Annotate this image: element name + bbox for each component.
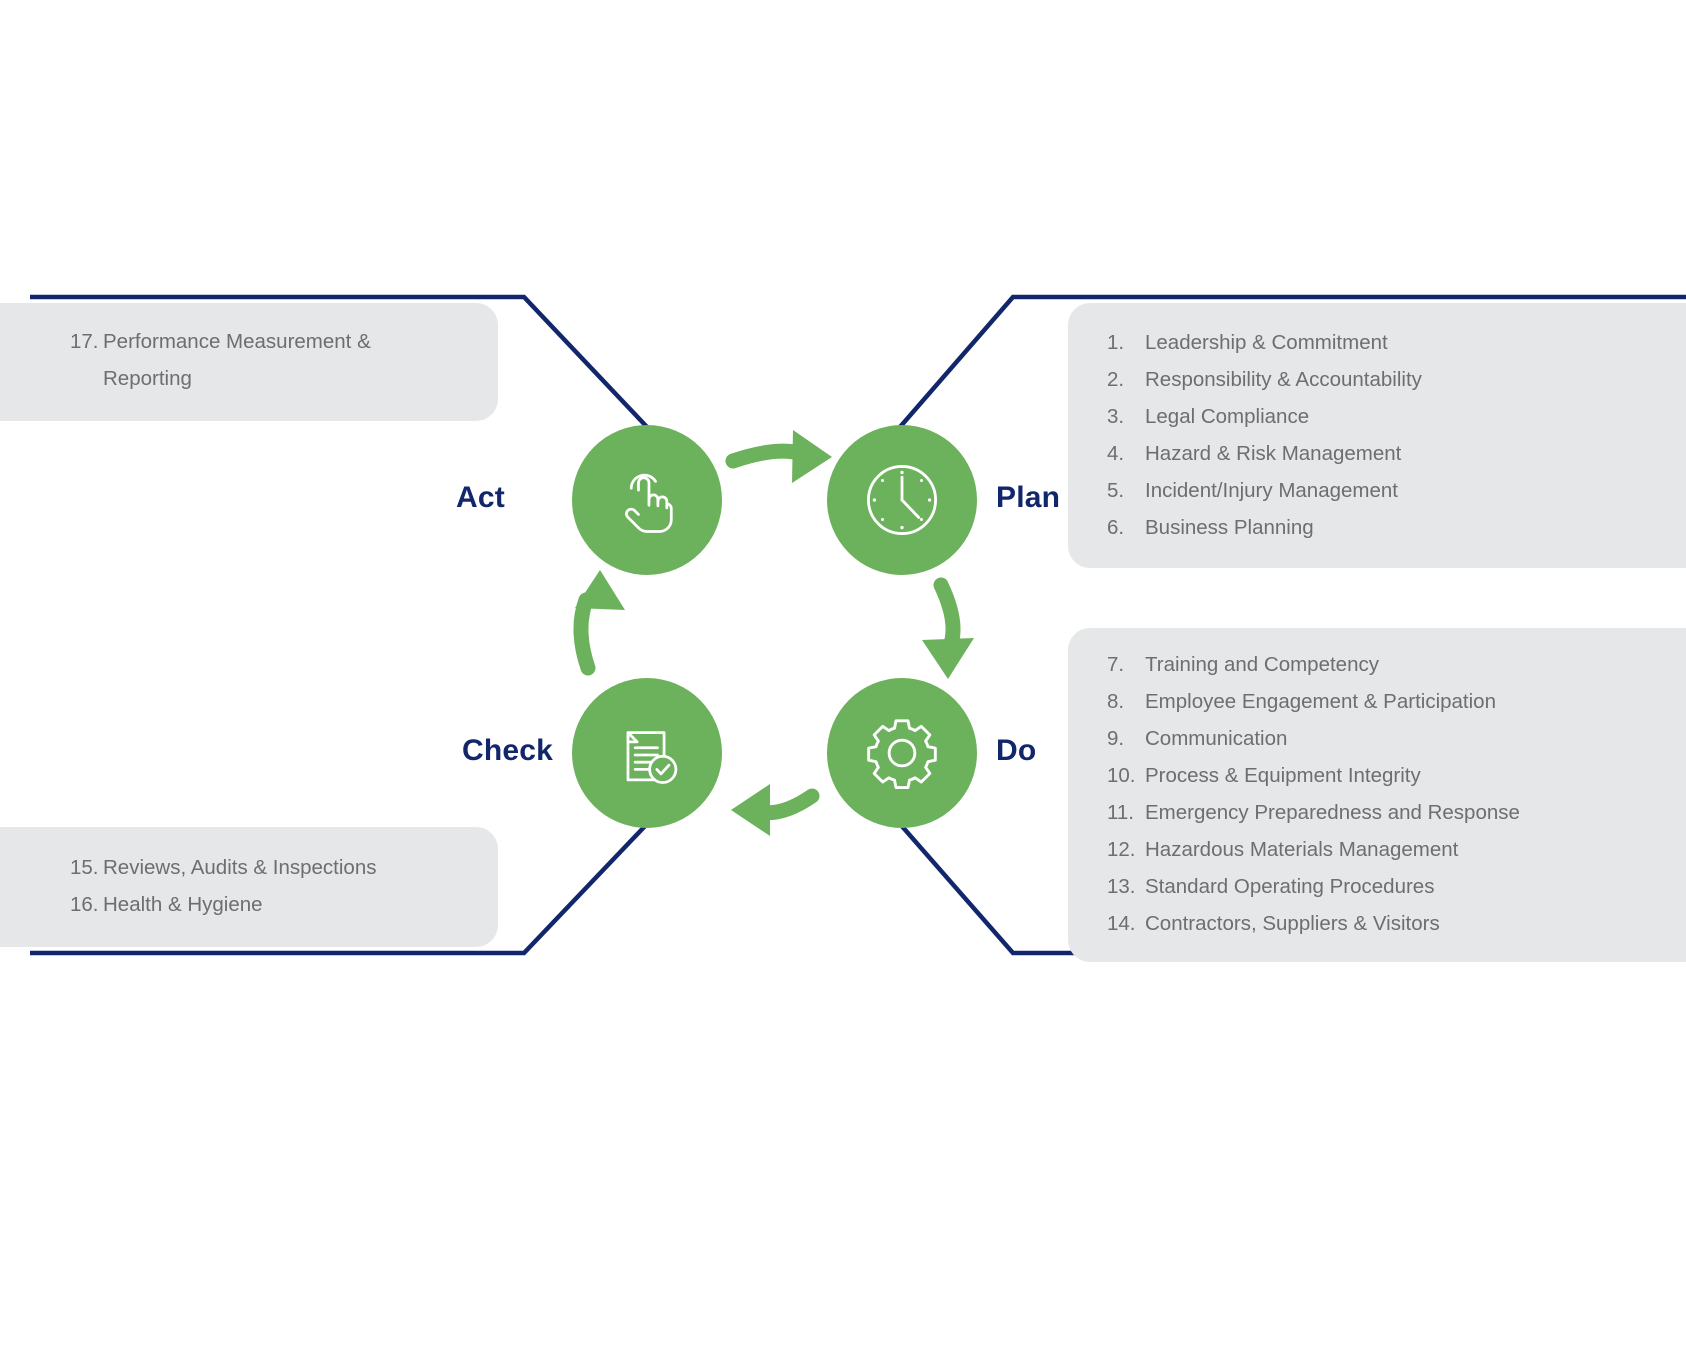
act-items-list: 17.Performance Measurement & Reporting [0, 323, 498, 397]
list-item: 17.Performance Measurement & Reporting [0, 323, 498, 397]
pdca-diagram: 1.Leadership & Commitment 2.Responsibili… [0, 0, 1686, 1348]
act-items-panel: 17.Performance Measurement & Reporting [0, 303, 498, 421]
list-item-label: Emergency Preparedness and Response [1145, 794, 1520, 831]
arrow-do-to-check-icon [731, 784, 812, 836]
list-item: 15.Reviews, Audits & Inspections [0, 849, 498, 886]
list-item: 7.Training and Competency [1107, 646, 1686, 683]
list-item-number: 12. [1107, 831, 1145, 868]
do-items-list: 7.Training and Competency 8.Employee Eng… [1107, 646, 1686, 942]
do-items-panel: 7.Training and Competency 8.Employee Eng… [1068, 628, 1686, 962]
list-item-label: Legal Compliance [1145, 398, 1309, 435]
list-item-label: Training and Competency [1145, 646, 1379, 683]
list-item: 8.Employee Engagement & Participation [1107, 683, 1686, 720]
list-item-label: Hazard & Risk Management [1145, 435, 1401, 472]
stage-circle-check[interactable] [572, 678, 722, 828]
hand-tap-icon [605, 458, 689, 542]
list-item-number: 1. [1107, 324, 1145, 361]
arrow-act-to-plan-icon [733, 430, 832, 483]
list-item-number: 9. [1107, 720, 1145, 757]
list-item: 12.Hazardous Materials Management [1107, 831, 1686, 868]
check-items-panel: 15.Reviews, Audits & Inspections 16.Heal… [0, 827, 498, 947]
stage-label-plan: Plan [996, 481, 1060, 515]
list-item-label: Process & Equipment Integrity [1145, 757, 1421, 794]
list-item-number: 13. [1107, 868, 1145, 905]
list-item-number: 11. [1107, 794, 1145, 831]
list-item: 16.Health & Hygiene [0, 886, 498, 923]
stage-circle-do[interactable] [827, 678, 977, 828]
list-item: 3.Legal Compliance [1107, 398, 1686, 435]
list-item-number: 5. [1107, 472, 1145, 509]
document-check-icon [605, 711, 689, 795]
list-item: 10.Process & Equipment Integrity [1107, 757, 1686, 794]
list-item: 2.Responsibility & Accountability [1107, 361, 1686, 398]
list-item: 4.Hazard & Risk Management [1107, 435, 1686, 472]
arrow-check-to-act-icon [575, 570, 625, 668]
list-item-number: 10. [1107, 757, 1145, 794]
list-item: 1.Leadership & Commitment [1107, 324, 1686, 361]
list-item: 13.Standard Operating Procedures [1107, 868, 1686, 905]
stage-label-do: Do [996, 734, 1036, 768]
arrow-plan-to-do-icon [922, 585, 974, 679]
list-item: 6.Business Planning [1107, 509, 1686, 546]
list-item-number: 7. [1107, 646, 1145, 683]
list-item-label: Contractors, Suppliers & Visitors [1145, 905, 1440, 942]
plan-items-list: 1.Leadership & Commitment 2.Responsibili… [1107, 324, 1686, 546]
list-item-number: 16. [70, 886, 103, 923]
list-item-number: 6. [1107, 509, 1145, 546]
list-item-label: Hazardous Materials Management [1145, 831, 1458, 868]
list-item: 5.Incident/Injury Management [1107, 472, 1686, 509]
list-item-label: Communication [1145, 720, 1287, 757]
list-item-number: 17. [70, 323, 103, 360]
list-item-number: 4. [1107, 435, 1145, 472]
list-item: 9.Communication [1107, 720, 1686, 757]
plan-items-panel: 1.Leadership & Commitment 2.Responsibili… [1068, 303, 1686, 568]
list-item-label: Employee Engagement & Participation [1145, 683, 1496, 720]
check-items-list: 15.Reviews, Audits & Inspections 16.Heal… [0, 849, 498, 923]
list-item-label: Reviews, Audits & Inspections [103, 849, 376, 886]
stage-circle-act[interactable] [572, 425, 722, 575]
list-item-label: Leadership & Commitment [1145, 324, 1388, 361]
list-item-label: Incident/Injury Management [1145, 472, 1398, 509]
list-item-number: 3. [1107, 398, 1145, 435]
gear-icon [860, 711, 944, 795]
list-item-number: 15. [70, 849, 103, 886]
clock-icon [859, 457, 945, 543]
list-item-label: Health & Hygiene [103, 886, 263, 923]
list-item: 11.Emergency Preparedness and Response [1107, 794, 1686, 831]
list-item-label: Performance Measurement & Reporting [103, 323, 403, 397]
list-item-label: Business Planning [1145, 509, 1314, 546]
stage-circle-plan[interactable] [827, 425, 977, 575]
stage-label-check: Check [462, 734, 553, 768]
list-item-label: Responsibility & Accountability [1145, 361, 1422, 398]
list-item-number: 14. [1107, 905, 1145, 942]
list-item: 14.Contractors, Suppliers & Visitors [1107, 905, 1686, 942]
list-item-number: 2. [1107, 361, 1145, 398]
list-item-label: Standard Operating Procedures [1145, 868, 1434, 905]
list-item-number: 8. [1107, 683, 1145, 720]
stage-label-act: Act [456, 481, 505, 515]
